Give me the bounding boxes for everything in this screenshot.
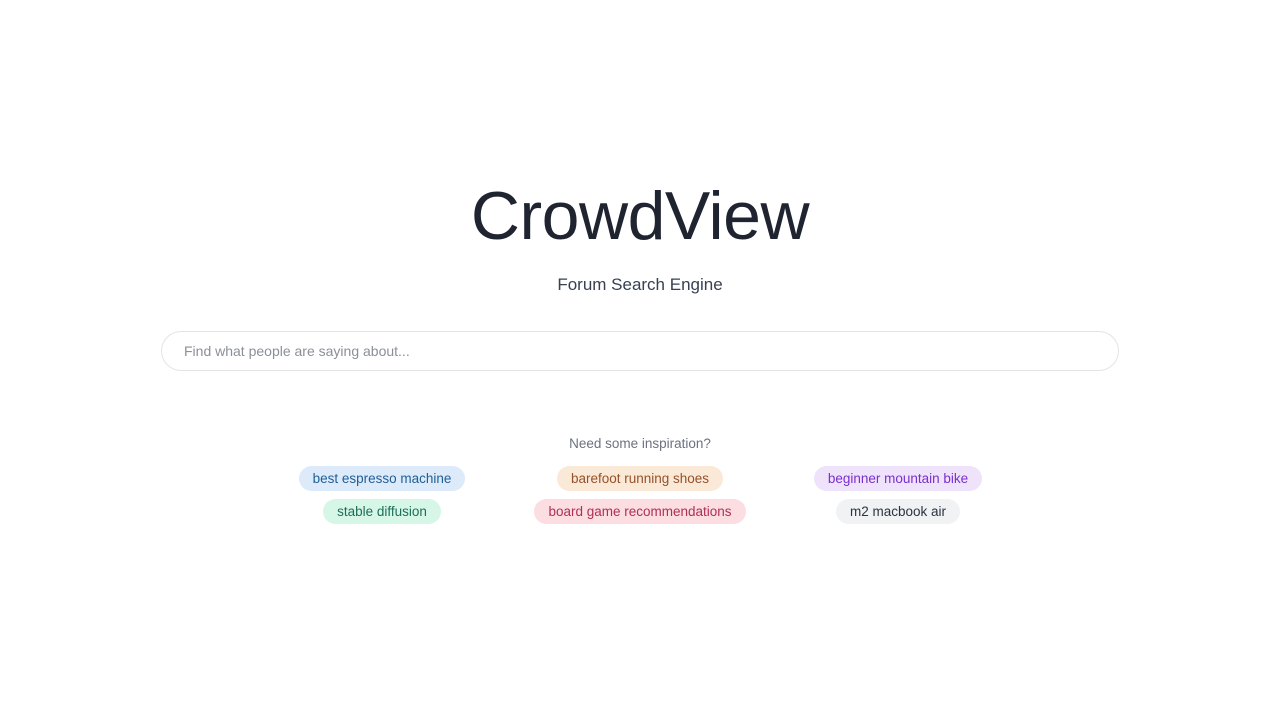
suggestion-chip[interactable]: barefoot running shoes bbox=[557, 466, 723, 491]
inspiration-section: Need some inspiration? best espresso mac… bbox=[0, 435, 1280, 524]
search-input[interactable] bbox=[161, 331, 1119, 371]
suggestion-chip[interactable]: board game recommendations bbox=[534, 499, 745, 524]
landing-page: CrowdView Forum Search Engine Need some … bbox=[0, 0, 1280, 720]
suggestion-chip-cell: barefoot running shoes bbox=[511, 466, 769, 491]
search-bar bbox=[161, 331, 1119, 371]
suggestion-chip-cell: m2 macbook air bbox=[769, 499, 1027, 524]
page-subtitle: Forum Search Engine bbox=[0, 274, 1280, 296]
hero-section: CrowdView Forum Search Engine bbox=[0, 178, 1280, 296]
suggestion-chip[interactable]: best espresso machine bbox=[299, 466, 466, 491]
suggestion-chip[interactable]: beginner mountain bike bbox=[814, 466, 982, 491]
suggestion-chip-cell: best espresso machine bbox=[253, 466, 511, 491]
suggestion-chip-cell: board game recommendations bbox=[511, 499, 769, 524]
page-title: CrowdView bbox=[0, 178, 1280, 254]
suggestion-chip[interactable]: m2 macbook air bbox=[836, 499, 960, 524]
suggestion-chip-cell: stable diffusion bbox=[253, 499, 511, 524]
suggestion-chip-cell: beginner mountain bike bbox=[769, 466, 1027, 491]
suggestion-chip[interactable]: stable diffusion bbox=[323, 499, 441, 524]
inspiration-label: Need some inspiration? bbox=[0, 435, 1280, 453]
suggestion-chip-grid: best espresso machinebarefoot running sh… bbox=[0, 466, 1280, 524]
